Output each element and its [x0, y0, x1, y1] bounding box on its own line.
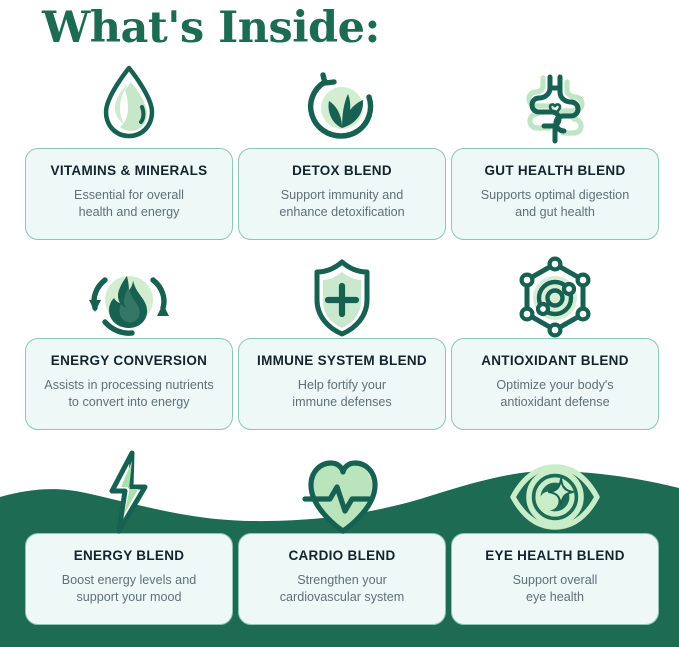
water-drop-icon [94, 60, 164, 142]
card-heading: ENERGY BLEND [36, 548, 222, 563]
card-energy-blend[interactable]: ENERGY BLEND Boost energy levels and sup… [25, 445, 233, 625]
card-text-line2: cardiovascular system [249, 589, 435, 606]
card-heading: IMMUNE SYSTEM BLEND [249, 353, 435, 368]
card-text-line2: antioxidant defense [462, 394, 648, 411]
card-body: VITAMINS & MINERALS Essential for overal… [25, 148, 233, 240]
card-body: GUT HEALTH BLEND Supports optimal digest… [451, 148, 659, 240]
card-text-line1: Boost energy levels and [36, 572, 222, 589]
card-detox-blend[interactable]: DETOX BLEND Support immunity and enhance… [238, 60, 446, 240]
card-text-line1: Help fortify your [249, 377, 435, 394]
card-energy-conversion[interactable]: ENERGY CONVERSION Assists in processing … [25, 250, 233, 430]
card-body: ENERGY CONVERSION Assists in processing … [25, 338, 233, 430]
card-text-line2: and gut health [462, 204, 648, 221]
page-title: What's Inside: [0, 2, 679, 54]
shield-plus-icon [307, 256, 377, 340]
card-body: ENERGY BLEND Boost energy levels and sup… [25, 533, 233, 625]
card-heading: VITAMINS & MINERALS [36, 163, 222, 178]
card-body: ANTIOXIDANT BLEND Optimize your body's a… [451, 338, 659, 430]
card-text-line2: enhance detoxification [249, 204, 435, 221]
card-heading: EYE HEALTH BLEND [462, 548, 648, 563]
card-text-line2: to convert into energy [36, 394, 222, 411]
card-text-line2: health and energy [36, 204, 222, 221]
infographic-root: What's Inside: VITAMINS & MINERALS Essen… [0, 0, 679, 647]
card-body: IMMUNE SYSTEM BLEND Help fortify your im… [238, 338, 446, 430]
eye-sparkle-icon [503, 457, 607, 535]
cards-grid: VITAMINS & MINERALS Essential for overal… [0, 0, 679, 647]
card-antioxidant-blend[interactable]: ANTIOXIDANT BLEND Optimize your body's a… [451, 250, 659, 430]
card-heading: ENERGY CONVERSION [36, 353, 222, 368]
card-text-line1: Support overall [462, 572, 648, 589]
card-eye-health-blend[interactable]: EYE HEALTH BLEND Support overall eye hea… [451, 445, 659, 625]
card-text-line1: Essential for overall [36, 187, 222, 204]
card-text-line1: Support immunity and [249, 187, 435, 204]
flame-recycle-icon [83, 260, 175, 338]
card-text-line1: Supports optimal digestion [462, 187, 648, 204]
card-gut-health-blend[interactable]: GUT HEALTH BLEND Supports optimal digest… [451, 60, 659, 240]
card-body: EYE HEALTH BLEND Support overall eye hea… [451, 533, 659, 625]
card-body: CARDIO BLEND Strengthen your cardiovascu… [238, 533, 446, 625]
card-heading: GUT HEALTH BLEND [462, 163, 648, 178]
card-heading: CARDIO BLEND [249, 548, 435, 563]
molecule-hexagon-icon [513, 256, 597, 340]
lightning-bolt-icon [99, 447, 159, 537]
card-text-line2: support your mood [36, 589, 222, 606]
card-cardio-blend[interactable]: CARDIO BLEND Strengthen your cardiovascu… [238, 445, 446, 625]
card-text-line1: Assists in processing nutrients [36, 377, 222, 394]
card-heading: ANTIOXIDANT BLEND [462, 353, 648, 368]
heart-pulse-icon [297, 455, 387, 537]
card-immune-system-blend[interactable]: IMMUNE SYSTEM BLEND Help fortify your im… [238, 250, 446, 430]
card-text-line2: immune defenses [249, 394, 435, 411]
card-body: DETOX BLEND Support immunity and enhance… [238, 148, 446, 240]
card-text-line2: eye health [462, 589, 648, 606]
card-vitamins-minerals[interactable]: VITAMINS & MINERALS Essential for overal… [25, 60, 233, 240]
card-heading: DETOX BLEND [249, 163, 435, 178]
intestine-heart-icon [519, 68, 591, 148]
detox-leaves-recycle-icon [301, 70, 383, 142]
card-text-line1: Optimize your body's [462, 377, 648, 394]
card-text-line1: Strengthen your [249, 572, 435, 589]
